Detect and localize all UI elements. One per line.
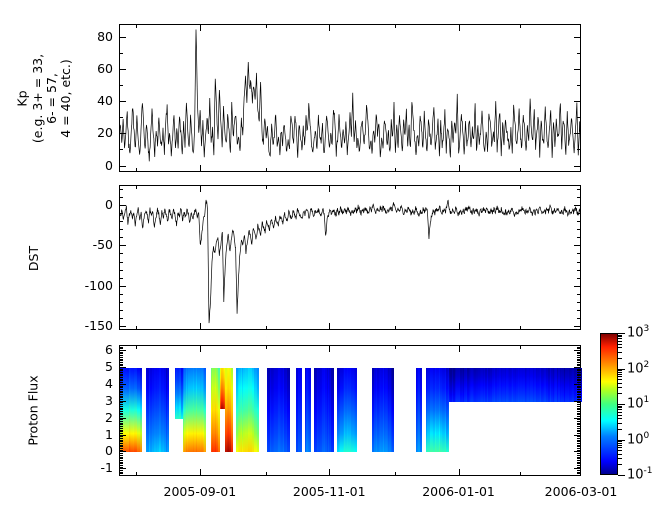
- y-minor-tick: [119, 409, 123, 410]
- x-major-tick: [329, 345, 330, 352]
- y-minor-tick: [577, 359, 581, 360]
- y-tick-label: -50: [61, 237, 113, 252]
- y-tick-label: 80: [61, 29, 113, 44]
- x-minor-tick: [395, 24, 396, 28]
- colorbar-label-exponent: 2: [644, 360, 650, 370]
- y-minor-tick: [577, 413, 581, 414]
- y-minor-tick: [577, 455, 581, 456]
- x-minor-tick: [136, 168, 137, 172]
- y-major-tick: [119, 384, 126, 385]
- dst-axis-label: DST: [26, 245, 41, 270]
- y-minor-tick: [119, 365, 123, 366]
- colorbar-minor-tick: [618, 335, 622, 336]
- y-tick-label: 60: [61, 61, 113, 76]
- colorbar-label-exponent: 0: [644, 431, 650, 441]
- y-minor-tick: [577, 348, 581, 349]
- y-minor-tick: [119, 428, 123, 429]
- y-major-tick: [119, 367, 126, 368]
- colorbar-label-mantissa: 10: [627, 432, 644, 447]
- y-tick-label: 6: [61, 342, 113, 357]
- y-minor-tick: [119, 360, 123, 361]
- y-minor-tick: [119, 348, 123, 349]
- y-minor-tick: [577, 197, 581, 198]
- y-major-tick: [574, 384, 581, 385]
- y-major-tick: [574, 468, 581, 469]
- x-minor-tick: [520, 345, 521, 349]
- proton-flux-block: [372, 368, 394, 453]
- x-minor-tick: [136, 345, 137, 349]
- spectrogram-column: [392, 368, 394, 453]
- y-tick-label: -150: [61, 318, 113, 333]
- colorbar-minor-tick: [618, 374, 622, 375]
- y-minor-tick: [119, 419, 123, 420]
- y-minor-tick: [577, 353, 581, 354]
- proton-flux-block: [146, 368, 169, 453]
- y-tick-label: 3: [61, 393, 113, 408]
- y-minor-tick: [577, 262, 581, 263]
- figure-canvas: Kp (e.g. 3+ = 33, 6- = 57, 4 = 40, etc.)…: [0, 0, 665, 523]
- kp-axis-label-line1: Kp: [15, 90, 30, 106]
- y-tick-label: 0: [61, 443, 113, 458]
- x-minor-tick: [266, 24, 267, 28]
- y-major-tick: [574, 205, 581, 206]
- y-minor-tick: [577, 473, 581, 474]
- x-tick-label-2: 2006-01-01: [414, 484, 504, 499]
- y-minor-tick: [119, 424, 123, 425]
- y-major-tick: [119, 101, 126, 102]
- x-major-tick: [200, 469, 201, 476]
- colorbar-minor-tick: [618, 358, 622, 359]
- y-major-tick: [119, 245, 126, 246]
- y-major-tick: [574, 245, 581, 246]
- y-minor-tick: [119, 470, 123, 471]
- x-major-tick: [459, 185, 460, 192]
- y-minor-tick: [577, 457, 581, 458]
- x-minor-tick: [266, 185, 267, 189]
- y-tick-label: 1: [61, 427, 113, 442]
- colorbar-tick-label: 102: [627, 360, 649, 376]
- y-minor-tick: [119, 396, 123, 397]
- y-minor-tick: [577, 438, 581, 439]
- y-minor-tick: [577, 396, 581, 397]
- colorbar-minor-tick: [618, 372, 622, 373]
- y-minor-tick: [119, 392, 123, 393]
- colorbar-label-mantissa: 10: [627, 325, 644, 340]
- y-minor-tick: [577, 453, 581, 454]
- y-minor-tick: [577, 85, 581, 86]
- y-minor-tick: [577, 389, 581, 390]
- x-minor-tick: [136, 472, 137, 476]
- y-tick-label: 0: [61, 197, 113, 212]
- y-minor-tick: [577, 213, 581, 214]
- x-major-tick: [329, 24, 330, 31]
- colorbar-minor-tick: [618, 341, 622, 342]
- dst-panel: [119, 185, 581, 330]
- y-minor-tick: [577, 355, 581, 356]
- y-major-tick: [119, 69, 126, 70]
- y-minor-tick: [577, 362, 581, 363]
- x-minor-tick: [266, 345, 267, 349]
- y-minor-tick: [119, 374, 123, 375]
- y-minor-tick: [119, 465, 123, 466]
- y-minor-tick: [577, 460, 581, 461]
- spectrogram-column: [309, 368, 311, 453]
- x-major-tick: [459, 323, 460, 330]
- colorbar-minor-tick: [618, 450, 622, 451]
- y-minor-tick: [577, 430, 581, 431]
- y-minor-tick: [577, 357, 581, 358]
- y-major-tick: [574, 69, 581, 70]
- y-minor-tick: [119, 431, 123, 432]
- y-minor-tick: [577, 416, 581, 417]
- spectrogram-column: [300, 368, 302, 453]
- y-major-tick: [119, 326, 126, 327]
- y-minor-tick: [119, 294, 123, 295]
- y-minor-tick: [119, 411, 123, 412]
- y-minor-tick: [119, 430, 123, 431]
- y-minor-tick: [577, 372, 581, 373]
- proton-flux-block: [449, 368, 582, 402]
- spectrogram-column: [204, 368, 206, 453]
- colorbar-minor-tick: [618, 393, 622, 394]
- y-minor-tick: [577, 421, 581, 422]
- spectrogram-column: [231, 368, 233, 453]
- y-minor-tick: [119, 387, 123, 388]
- x-minor-tick: [266, 472, 267, 476]
- y-major-tick: [119, 166, 126, 167]
- colorbar-minor-tick: [618, 423, 622, 424]
- y-minor-tick: [119, 355, 123, 356]
- y-minor-tick: [119, 377, 123, 378]
- x-major-tick: [200, 185, 201, 192]
- y-minor-tick: [577, 463, 581, 464]
- y-minor-tick: [119, 302, 123, 303]
- y-minor-tick: [119, 382, 123, 383]
- y-minor-tick: [119, 450, 123, 451]
- colorbar-minor-tick: [618, 338, 622, 339]
- colorbar-tick-label: 103: [627, 324, 649, 340]
- kp-panel: [119, 24, 581, 172]
- y-minor-tick: [577, 278, 581, 279]
- x-minor-tick: [520, 326, 521, 330]
- colorbar-label-mantissa: 10: [627, 361, 644, 376]
- kp-axis-label-line2: (e.g. 3+ = 33,: [30, 53, 45, 142]
- y-major-tick: [119, 286, 126, 287]
- y-tick-label: -100: [61, 278, 113, 293]
- colorbar-minor-tick: [618, 445, 622, 446]
- y-minor-tick: [577, 458, 581, 459]
- x-major-tick: [200, 345, 201, 352]
- x-minor-tick: [520, 24, 521, 28]
- proton-flux-block: [416, 368, 422, 453]
- y-minor-tick: [577, 189, 581, 190]
- y-minor-tick: [577, 370, 581, 371]
- x-major-tick: [329, 323, 330, 330]
- y-minor-tick: [577, 387, 581, 388]
- y-minor-tick: [119, 423, 123, 424]
- y-major-tick: [119, 37, 126, 38]
- y-minor-tick: [119, 394, 123, 395]
- y-tick-label: 40: [61, 93, 113, 108]
- y-minor-tick: [577, 423, 581, 424]
- colorbar-minor-tick: [618, 415, 622, 416]
- y-minor-tick: [577, 302, 581, 303]
- x-major-tick: [459, 165, 460, 172]
- y-minor-tick: [577, 382, 581, 383]
- colorbar-tick-label: 101: [627, 395, 649, 411]
- y-minor-tick: [577, 450, 581, 451]
- y-minor-tick: [577, 379, 581, 380]
- y-minor-tick: [119, 386, 123, 387]
- y-minor-tick: [577, 404, 581, 405]
- colorbar-tick-label: 100: [627, 431, 649, 447]
- y-minor-tick: [577, 117, 581, 118]
- x-minor-tick: [266, 168, 267, 172]
- proton-flux-block: [225, 368, 232, 453]
- spectrogram-column: [332, 368, 334, 453]
- colorbar-minor-tick: [618, 344, 622, 345]
- y-minor-tick: [577, 408, 581, 409]
- y-major-tick: [119, 205, 126, 206]
- y-major-tick: [574, 350, 581, 351]
- y-minor-tick: [119, 441, 123, 442]
- y-minor-tick: [577, 53, 581, 54]
- y-minor-tick: [577, 465, 581, 466]
- spectrogram-column: [420, 368, 422, 453]
- y-minor-tick: [577, 374, 581, 375]
- y-minor-tick: [577, 436, 581, 437]
- y-minor-tick: [577, 392, 581, 393]
- y-major-tick: [574, 133, 581, 134]
- colorbar-label-exponent: 1: [644, 395, 650, 405]
- y-tick-label: 4: [61, 376, 113, 391]
- y-minor-tick: [577, 472, 581, 473]
- colorbar-minor-tick: [618, 379, 622, 380]
- y-minor-tick: [119, 379, 123, 380]
- x-minor-tick: [520, 472, 521, 476]
- proton-flux-colorbar: [600, 333, 618, 475]
- y-minor-tick: [119, 362, 123, 363]
- colorbar-minor-tick: [618, 376, 622, 377]
- x-major-tick: [459, 24, 460, 31]
- y-minor-tick: [119, 347, 123, 348]
- y-minor-tick: [577, 360, 581, 361]
- y-minor-tick: [577, 433, 581, 434]
- y-minor-tick: [119, 253, 123, 254]
- y-minor-tick: [119, 357, 123, 358]
- y-minor-tick: [119, 372, 123, 373]
- x-tick-label-3: 2006-03-01: [536, 484, 626, 499]
- y-major-tick: [574, 367, 581, 368]
- y-minor-tick: [119, 380, 123, 381]
- y-minor-tick: [119, 473, 123, 474]
- x-minor-tick: [520, 168, 521, 172]
- y-minor-tick: [119, 413, 123, 414]
- y-minor-tick: [577, 446, 581, 447]
- colorbar-label-mantissa: 10: [627, 467, 644, 482]
- y-minor-tick: [577, 426, 581, 427]
- x-tick-label-0: 2005-09-01: [155, 484, 245, 499]
- colorbar-minor-tick: [618, 464, 622, 465]
- y-minor-tick: [577, 377, 581, 378]
- y-minor-tick: [119, 416, 123, 417]
- y-minor-tick: [577, 441, 581, 442]
- y-minor-tick: [577, 419, 581, 420]
- y-minor-tick: [577, 462, 581, 463]
- y-minor-tick: [577, 428, 581, 429]
- proton-flux-axis-label: Proton Flux: [26, 375, 41, 445]
- y-minor-tick: [119, 408, 123, 409]
- y-major-tick: [119, 350, 126, 351]
- y-minor-tick: [119, 438, 123, 439]
- y-minor-tick: [119, 399, 123, 400]
- y-minor-tick: [119, 467, 123, 468]
- proton-flux-block: [183, 368, 206, 453]
- y-minor-tick: [119, 402, 123, 403]
- x-major-tick: [200, 24, 201, 31]
- y-minor-tick: [119, 213, 123, 214]
- y-minor-tick: [577, 402, 581, 403]
- colorbar-minor-tick: [618, 454, 622, 455]
- colorbar-minor-tick: [618, 429, 622, 430]
- colorbar-minor-tick: [618, 412, 622, 413]
- x-minor-tick: [395, 326, 396, 330]
- y-minor-tick: [577, 470, 581, 471]
- y-minor-tick: [577, 364, 581, 365]
- x-minor-tick: [136, 326, 137, 330]
- proton-flux-block: [175, 368, 183, 419]
- y-minor-tick: [577, 318, 581, 319]
- y-minor-tick: [577, 253, 581, 254]
- colorbar-minor-tick: [618, 441, 622, 442]
- x-minor-tick: [395, 168, 396, 172]
- colorbar-major-tick: [618, 333, 625, 334]
- y-minor-tick: [577, 365, 581, 366]
- spectrogram-column: [257, 368, 259, 453]
- colorbar-minor-tick: [618, 409, 622, 410]
- y-minor-tick: [119, 229, 123, 230]
- y-minor-tick: [119, 475, 123, 476]
- y-minor-tick: [577, 448, 581, 449]
- y-minor-tick: [577, 475, 581, 476]
- x-minor-tick: [136, 185, 137, 189]
- y-minor-tick: [119, 237, 123, 238]
- colorbar-minor-tick: [618, 352, 622, 353]
- x-minor-tick: [395, 472, 396, 476]
- x-major-tick: [200, 165, 201, 172]
- y-tick-label: 0: [61, 158, 113, 173]
- proton-flux-block: [236, 368, 258, 453]
- y-major-tick: [574, 451, 581, 452]
- y-minor-tick: [119, 448, 123, 449]
- y-minor-tick: [577, 229, 581, 230]
- colorbar-label-mantissa: 10: [627, 396, 644, 411]
- x-major-tick: [459, 469, 460, 476]
- proton-flux-block: [426, 368, 449, 453]
- x-tick-label-1: 2005-11-01: [284, 484, 374, 499]
- y-minor-tick: [577, 399, 581, 400]
- y-minor-tick: [577, 397, 581, 398]
- y-minor-tick: [577, 443, 581, 444]
- y-minor-tick: [119, 453, 123, 454]
- y-minor-tick: [119, 455, 123, 456]
- y-minor-tick: [577, 347, 581, 348]
- y-minor-tick: [577, 149, 581, 150]
- y-minor-tick: [577, 440, 581, 441]
- y-tick-label: 20: [61, 125, 113, 140]
- y-minor-tick: [577, 467, 581, 468]
- y-minor-tick: [577, 391, 581, 392]
- colorbar-major-tick: [618, 475, 625, 476]
- y-minor-tick: [119, 440, 123, 441]
- y-minor-tick: [119, 270, 123, 271]
- y-minor-tick: [119, 221, 123, 222]
- x-major-tick: [329, 185, 330, 192]
- y-minor-tick: [119, 197, 123, 198]
- x-minor-tick: [395, 345, 396, 349]
- y-minor-tick: [119, 353, 123, 354]
- y-minor-tick: [577, 411, 581, 412]
- spectrogram-column: [289, 368, 291, 453]
- y-minor-tick: [577, 445, 581, 446]
- y-minor-tick: [119, 278, 123, 279]
- y-minor-tick: [577, 386, 581, 387]
- y-minor-tick: [119, 364, 123, 365]
- y-tick-label: 2: [61, 410, 113, 425]
- colorbar-minor-tick: [618, 407, 622, 408]
- x-minor-tick: [520, 185, 521, 189]
- proton-flux-block: [267, 368, 290, 453]
- colorbar-label-exponent: 3: [644, 324, 650, 334]
- x-major-tick: [459, 345, 460, 352]
- x-minor-tick: [136, 24, 137, 28]
- y-minor-tick: [577, 394, 581, 395]
- y-minor-tick: [119, 359, 123, 360]
- y-minor-tick: [119, 426, 123, 427]
- y-minor-tick: [119, 460, 123, 461]
- y-major-tick: [574, 37, 581, 38]
- y-minor-tick: [577, 380, 581, 381]
- y-minor-tick: [119, 397, 123, 398]
- y-minor-tick: [119, 318, 123, 319]
- y-minor-tick: [119, 406, 123, 407]
- y-minor-tick: [119, 457, 123, 458]
- y-minor-tick: [119, 433, 123, 434]
- proton-flux-block: [305, 368, 311, 453]
- y-minor-tick: [577, 424, 581, 425]
- y-minor-tick: [119, 421, 123, 422]
- colorbar-major-tick: [618, 404, 625, 405]
- y-minor-tick: [577, 270, 581, 271]
- y-minor-tick: [119, 462, 123, 463]
- y-major-tick: [119, 468, 126, 469]
- y-minor-tick: [119, 463, 123, 464]
- spectrogram-column: [140, 368, 142, 453]
- colorbar-minor-tick: [618, 406, 622, 407]
- colorbar-minor-tick: [618, 387, 622, 388]
- proton-flux-block: [337, 368, 356, 453]
- colorbar-minor-tick: [618, 418, 622, 419]
- x-major-tick: [200, 323, 201, 330]
- y-major-tick: [119, 451, 126, 452]
- y-minor-tick: [119, 375, 123, 376]
- y-minor-tick: [119, 446, 123, 447]
- proton-flux-block: [211, 368, 220, 453]
- y-major-tick: [574, 101, 581, 102]
- y-minor-tick: [119, 189, 123, 190]
- colorbar-minor-tick: [618, 447, 622, 448]
- colorbar-label-exponent: -1: [644, 466, 653, 476]
